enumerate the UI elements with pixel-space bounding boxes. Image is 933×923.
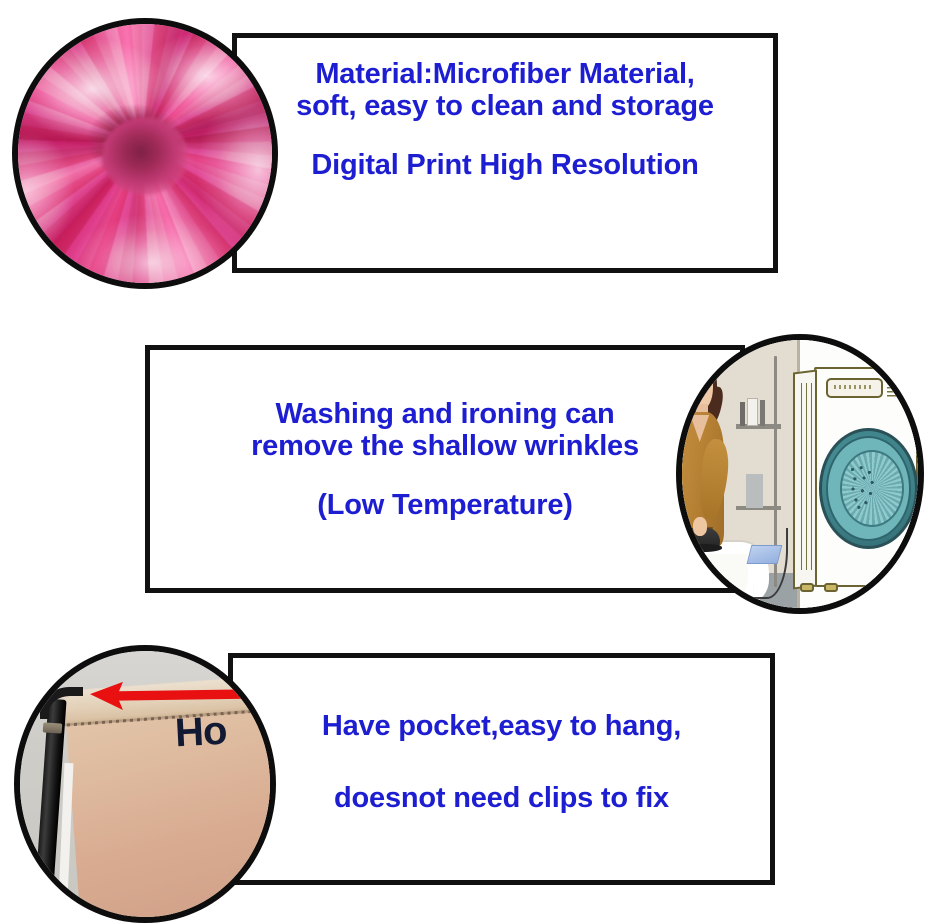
curtain-rod-ferrule — [43, 722, 62, 733]
tapestry-print-text: Ho — [174, 711, 227, 754]
shelf-item-c — [760, 400, 765, 425]
woman-hand — [693, 517, 707, 536]
washer-drum-holes — [849, 465, 878, 510]
rod-pocket-tapestry-photo: Ho — [14, 645, 276, 923]
panel-care-line-3: (Low Temperature) — [317, 489, 572, 521]
woman-ironing-and-washing-machine-illustration — [676, 334, 924, 614]
shelf-basket — [746, 474, 764, 508]
tapestry-fabric — [65, 692, 270, 917]
curtain-rod-elbow — [40, 687, 83, 719]
red-arrow-pointing-left-icon — [90, 680, 245, 712]
woman-fringe — [688, 360, 714, 380]
panel-material-line-1: Material:Microfiber Material, — [315, 58, 694, 90]
ironing-board-cover — [682, 554, 748, 608]
fabric-photo-inner — [18, 24, 272, 283]
panel-care-line-1: Washing and ironing can — [275, 398, 614, 430]
panel-material-textbox: Material:Microfiber Material, soft, easy… — [232, 33, 778, 273]
product-feature-infographic: Material:Microfiber Material, soft, easy… — [0, 0, 933, 923]
shelf-item-a — [740, 402, 746, 426]
washer-seam — [806, 383, 807, 571]
washer-seam — [801, 383, 802, 571]
panel-pocket: Have pocket,easy to hang, doesnot need c… — [0, 630, 933, 923]
shelf-item-b — [747, 398, 758, 426]
panel-material-line-3: Digital Print High Resolution — [311, 149, 698, 181]
panel-pocket-line-2: doesnot need clips to fix — [334, 782, 669, 814]
washer-control-panel — [826, 378, 883, 398]
panel-material: Material:Microfiber Material, soft, easy… — [0, 0, 933, 300]
pocket-photo: Ho — [20, 651, 270, 917]
panel-care: Washing and ironing can remove the shall… — [0, 330, 933, 620]
panel-care-textbox: Washing and ironing can remove the shall… — [145, 345, 745, 593]
washer-drum — [840, 450, 905, 527]
panel-care-line-2: remove the shallow wrinkles — [251, 430, 639, 462]
panel-pocket-line-1: Have pocket,easy to hang, — [322, 710, 681, 742]
washing-machine-side-panel — [793, 369, 817, 589]
pocket-photo-inner: Ho — [20, 651, 270, 917]
washer-foot — [800, 583, 814, 592]
laundry-scene — [682, 340, 918, 608]
washer-door-glass — [826, 436, 912, 541]
panel-pocket-textbox: Have pocket,easy to hang, doesnot need c… — [228, 653, 775, 885]
washer-program-ticks — [887, 379, 901, 398]
microfiber-fabric-swirl-photo — [12, 18, 278, 289]
fabric-swirl-center — [102, 117, 188, 195]
washer-door — [819, 428, 918, 549]
panel-material-line-2: soft, easy to clean and storage — [296, 90, 714, 122]
washer-foot — [824, 583, 838, 592]
washer-seam — [811, 383, 812, 571]
laundry-illustration-inner — [682, 340, 918, 608]
iron-soleplate — [682, 544, 722, 553]
